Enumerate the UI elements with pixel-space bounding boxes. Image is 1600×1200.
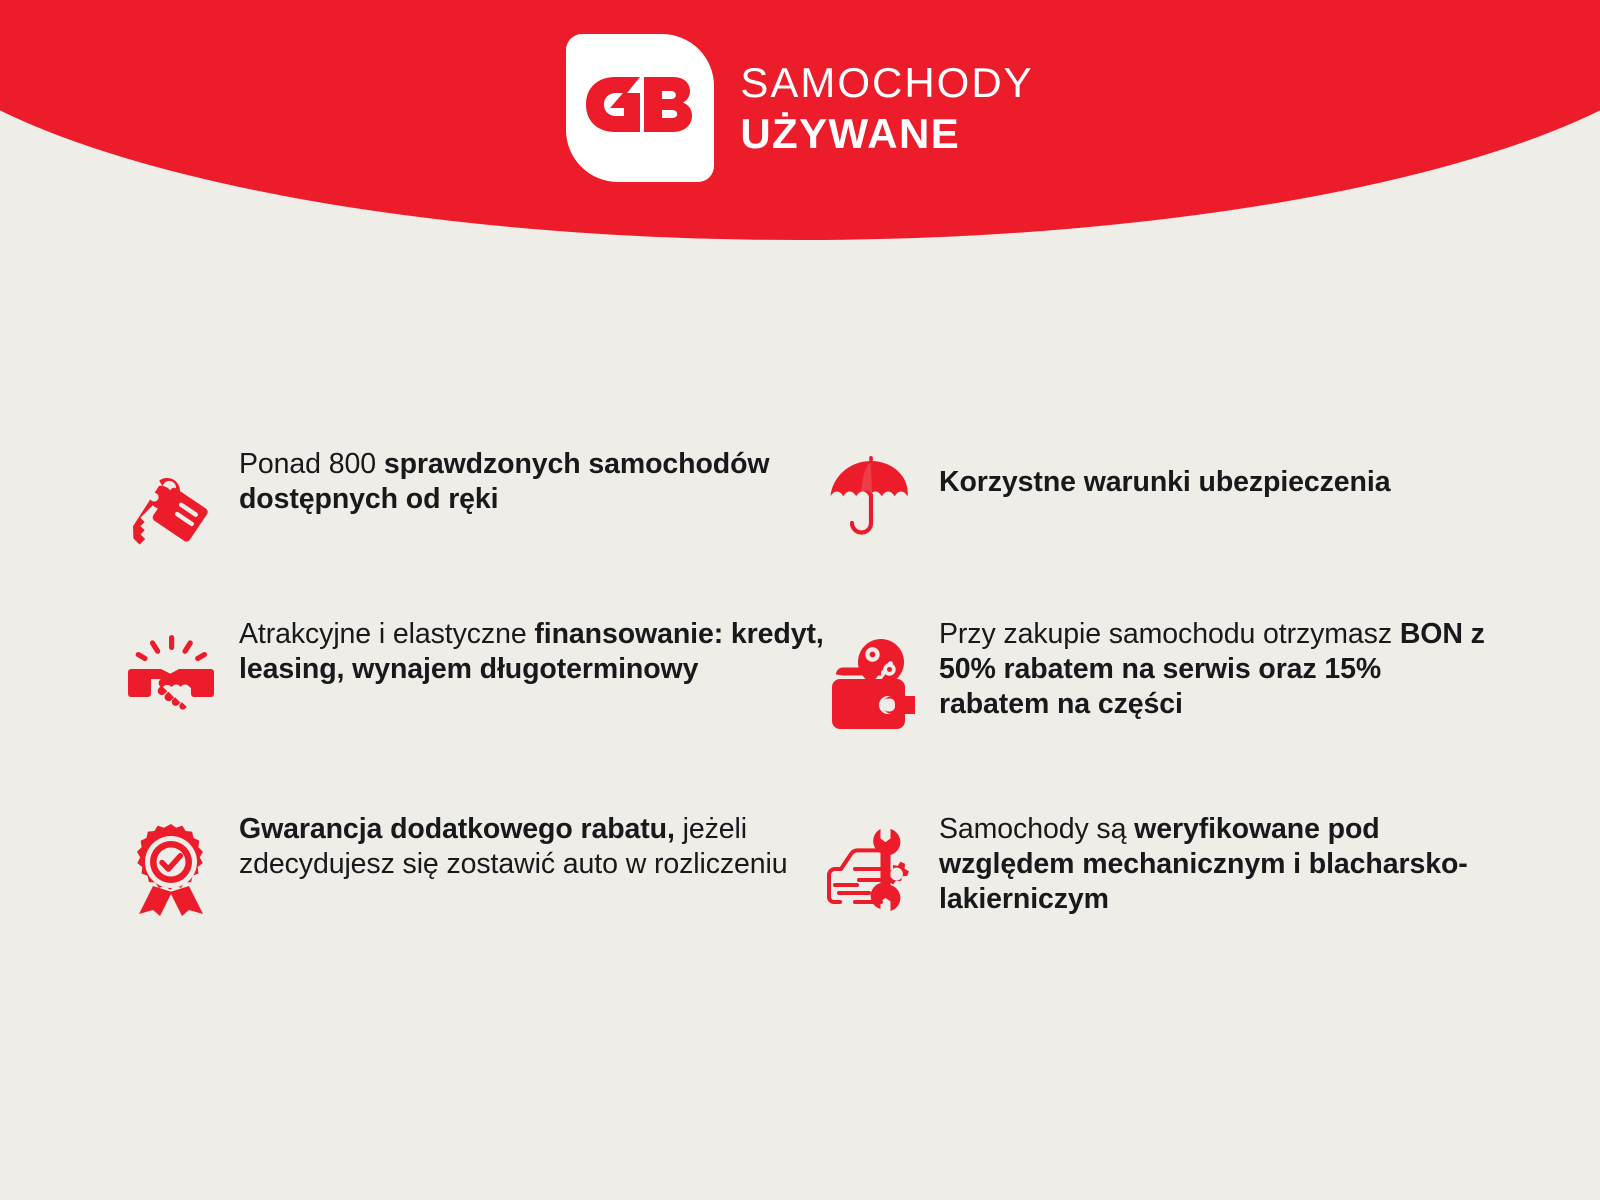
gb-monogram-icon [584, 77, 696, 139]
benefit-item-financing: Atrakcyjne i elastyczne finansowanie: kr… [125, 615, 825, 810]
car-keys-icon [125, 463, 217, 559]
wallet-percent-icon [825, 637, 917, 733]
logo-tile [566, 34, 714, 182]
award-badge-icon [125, 822, 217, 918]
brand-wordmark-line-1: SAMOCHODY [740, 62, 1033, 104]
benefits-left-column: Ponad 800 sprawdzonych samochodów dostęp… [125, 445, 825, 918]
benefit-item-verified-vehicles: Samochody są weryfikowane pod względem m… [825, 810, 1490, 918]
benefit-text-part: Samochody są [939, 813, 1134, 845]
handshake-icon [125, 627, 217, 723]
benefit-item-text: Korzystne warunki ubezpieczenia [939, 445, 1490, 500]
benefit-item-insurance: Korzystne warunki ubezpieczenia [825, 445, 1490, 615]
brand-wordmark-line-2: UŻYWANE [740, 113, 1033, 155]
car-wrench-gear-icon [825, 822, 917, 918]
benefits-right-column: Korzystne warunki ubezpieczenia [825, 445, 1490, 918]
benefit-text-part: Przy zakupie samochodu otrzymasz [939, 618, 1400, 650]
benefit-item-service-voucher: Przy zakupie samochodu otrzymasz BON z 5… [825, 615, 1490, 810]
benefit-item-text: Przy zakupie samochodu otrzymasz BON z 5… [939, 615, 1490, 722]
benefit-text-part: Gwarancja dodatkowego rabatu, [239, 813, 683, 845]
benefit-text-part: Korzystne warunki ubezpieczenia [939, 466, 1390, 498]
benefit-text-part: Ponad 800 [239, 448, 384, 480]
umbrella-icon [825, 449, 917, 545]
benefit-item-cars-available: Ponad 800 sprawdzonych samochodów dostęp… [125, 445, 825, 615]
benefit-item-text: Atrakcyjne i elastyczne finansowanie: kr… [239, 615, 825, 687]
page-header: SAMOCHODY UŻYWANE [0, 0, 1600, 260]
benefit-item-text: Samochody są weryfikowane pod względem m… [939, 810, 1490, 917]
benefit-text-part: Atrakcyjne i elastyczne [239, 618, 534, 650]
brand-logo-lockup[interactable]: SAMOCHODY UŻYWANE [0, 34, 1600, 182]
benefit-item-text: Ponad 800 sprawdzonych samochodów dostęp… [239, 445, 825, 517]
benefit-item-text: Gwarancja dodatkowego rabatu, jeżeli zde… [239, 810, 825, 882]
brand-wordmark: SAMOCHODY UŻYWANE [740, 62, 1033, 155]
benefits-grid: Ponad 800 sprawdzonych samochodów dostęp… [125, 445, 1490, 918]
benefit-item-trade-in-guarantee: Gwarancja dodatkowego rabatu, jeżeli zde… [125, 810, 825, 918]
